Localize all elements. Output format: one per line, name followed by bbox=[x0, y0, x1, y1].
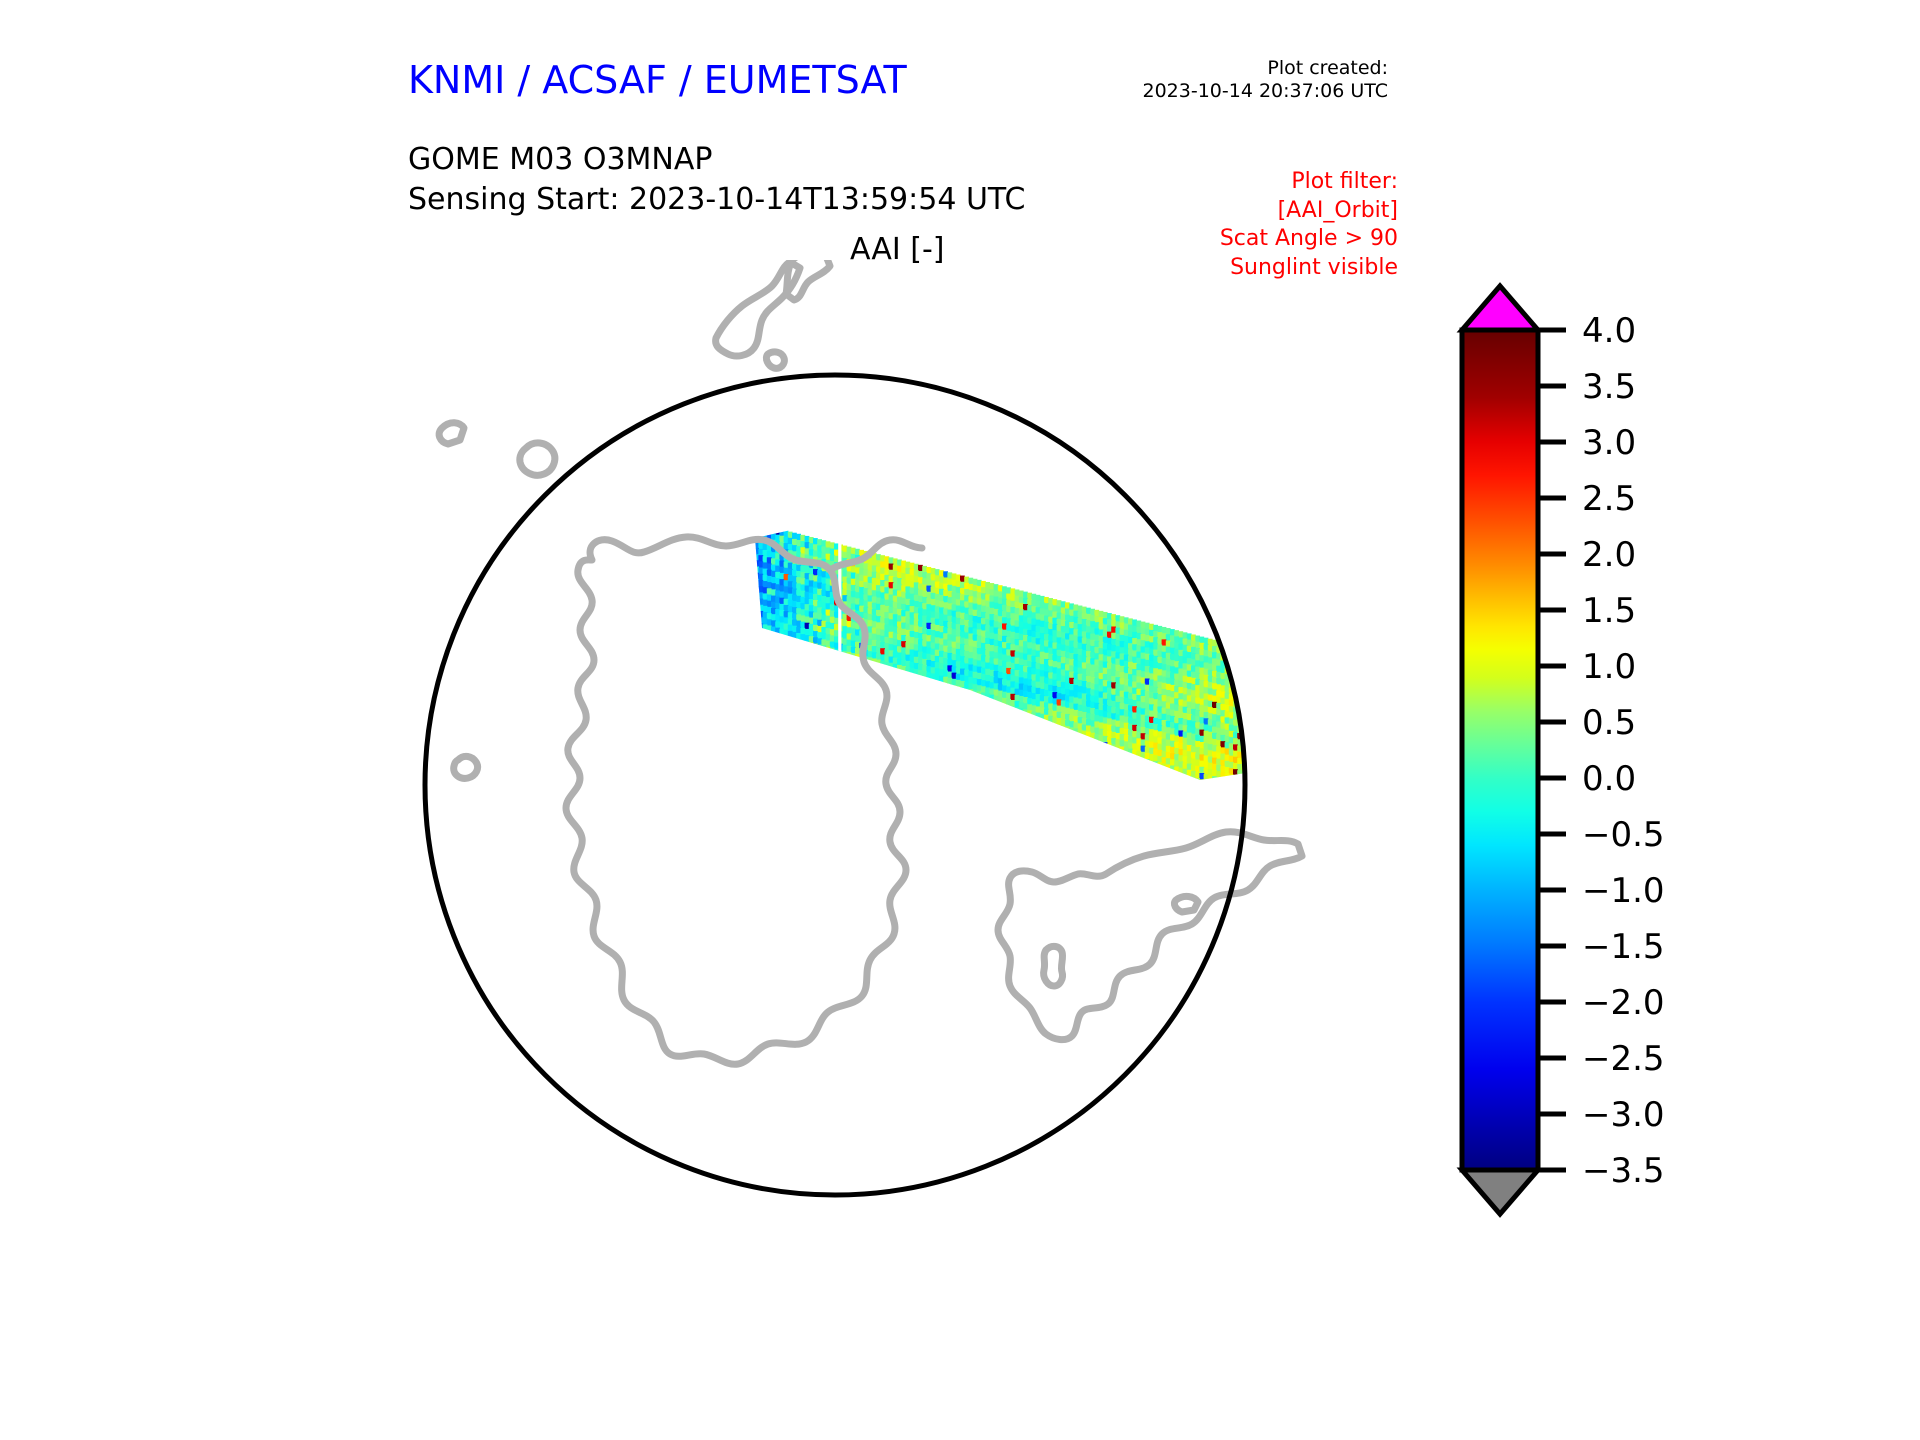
organizations-title: KNMI / ACSAF / EUMETSAT bbox=[408, 58, 907, 102]
colorbar-tick-label: 0.0 bbox=[1582, 759, 1636, 799]
macquarie-island bbox=[439, 423, 464, 444]
swath-layer bbox=[750, 522, 1381, 955]
colorbar-tick-label: −0.5 bbox=[1582, 815, 1665, 855]
colorbar-tick-label: −1.5 bbox=[1582, 927, 1665, 967]
colorbar-tick-label: −3.5 bbox=[1582, 1151, 1665, 1191]
colorbar-tick-label: −1.0 bbox=[1582, 871, 1665, 911]
colorbar-tick-label: 3.5 bbox=[1582, 367, 1636, 407]
colorbar: 4.03.53.02.52.01.51.00.50.0−0.5−1.0−1.5−… bbox=[1440, 280, 1770, 1300]
aai-plot-page: KNMI / ACSAF / EUMETSAT Plot created: 20… bbox=[0, 0, 1920, 1440]
colorbar-gradient-bar bbox=[1462, 330, 1538, 1170]
colorbar-canvas: 4.03.53.02.52.01.51.00.50.0−0.5−1.0−1.5−… bbox=[1440, 280, 1770, 1300]
polar-map bbox=[330, 260, 1430, 1320]
south-shetland-islands bbox=[1174, 896, 1198, 912]
instrument-product-line: GOME M03 O3MNAP bbox=[408, 140, 1025, 180]
colorbar-tick-label: 1.5 bbox=[1582, 591, 1636, 631]
colorbar-ticks: 4.03.53.02.52.01.51.00.50.0−0.5−1.0−1.5−… bbox=[1538, 311, 1665, 1191]
colorbar-tick-label: 2.5 bbox=[1582, 479, 1636, 519]
swath-pixels bbox=[750, 522, 1381, 955]
colorbar-tick-label: 0.5 bbox=[1582, 703, 1636, 743]
falkland-islands bbox=[1044, 946, 1063, 986]
plot-filter-line-2: Scat Angle > 90 bbox=[1220, 225, 1398, 254]
plot-title-block: GOME M03 O3MNAP Sensing Start: 2023-10-1… bbox=[408, 140, 1025, 220]
colorbar-tick-label: 2.0 bbox=[1582, 535, 1636, 575]
stewart-island bbox=[766, 352, 784, 368]
plot-created-timestamp: 2023-10-14 20:37:06 UTC bbox=[1143, 80, 1389, 103]
globe-limb-circle bbox=[425, 375, 1245, 1195]
antarctica-coastline bbox=[566, 537, 906, 1064]
colorbar-tick-label: 1.0 bbox=[1582, 647, 1636, 687]
auckland-islands bbox=[520, 443, 555, 475]
plot-filter-label: Plot filter: bbox=[1220, 168, 1398, 197]
swath-data-gap bbox=[838, 540, 841, 823]
sub-antarctic-island-west bbox=[454, 756, 478, 778]
sensing-start-line: Sensing Start: 2023-10-14T13:59:54 UTC bbox=[408, 180, 1025, 220]
south-america-coastline bbox=[998, 832, 1302, 1040]
colorbar-under-arrow bbox=[1462, 1170, 1538, 1214]
colorbar-tick-label: −2.5 bbox=[1582, 1039, 1665, 1079]
plot-created-label: Plot created: bbox=[1143, 57, 1389, 80]
plot-filter-line-1: [AAI_Orbit] bbox=[1220, 197, 1398, 226]
plot-created-block: Plot created: 2023-10-14 20:37:06 UTC bbox=[1143, 57, 1389, 103]
map-canvas bbox=[330, 260, 1430, 1320]
colorbar-tick-label: −3.0 bbox=[1582, 1095, 1665, 1135]
colorbar-tick-label: −2.0 bbox=[1582, 983, 1665, 1023]
colorbar-over-arrow bbox=[1462, 286, 1538, 330]
colorbar-tick-label: 3.0 bbox=[1582, 423, 1636, 463]
colorbar-tick-label: 4.0 bbox=[1582, 311, 1636, 351]
